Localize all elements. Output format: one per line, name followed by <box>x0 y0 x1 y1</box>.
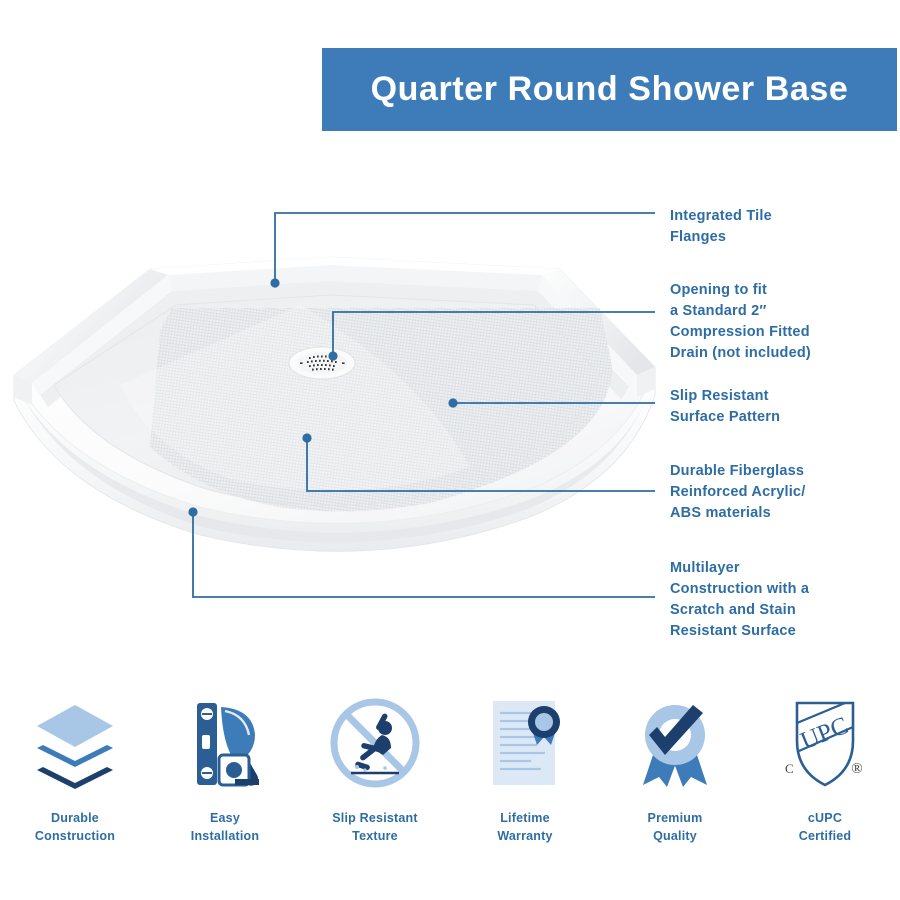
callout-multilayer-construction: Multilayer Construction with a Scratch a… <box>670 558 885 642</box>
callout-line: Flanges <box>670 227 885 248</box>
callout-line: Resistant Surface <box>670 621 885 642</box>
feature-label: Lifetime Warranty <box>497 809 552 845</box>
feature-label-line: Lifetime <box>497 809 552 827</box>
feature-label-line: Slip Resistant <box>332 809 417 827</box>
callout-line: Surface Pattern <box>670 407 885 428</box>
feature-label-line: Warranty <box>497 827 552 845</box>
upc-c-mark: C <box>785 761 794 776</box>
certificate-icon <box>470 690 580 795</box>
seal-inner <box>535 713 553 731</box>
feature-premium-quality: Premium Quality <box>600 690 750 845</box>
feature-label: cUPC Certified <box>799 809 852 845</box>
feature-label: Slip Resistant Texture <box>332 809 417 845</box>
feature-lifetime-warranty: Lifetime Warranty <box>450 690 600 845</box>
drain-assembly <box>289 347 355 379</box>
callout-line: Scratch and Stain <box>670 600 885 621</box>
callout-drain-opening: Opening to fit a Standard 2″ Compression… <box>670 280 885 364</box>
feature-label-line: Certified <box>799 827 852 845</box>
upc-registered-mark: ® <box>851 761 862 777</box>
callout-line: ABS materials <box>670 503 885 524</box>
callout-line: a Standard 2″ <box>670 301 885 322</box>
shower-base-drawing <box>0 235 670 555</box>
feature-label-line: Installation <box>191 827 259 845</box>
callout-line: Compression Fitted <box>670 322 885 343</box>
feature-label-line: Easy <box>191 809 259 827</box>
callout-slip-resistant-surface: Slip Resistant Surface Pattern <box>670 386 885 428</box>
callout-durable-materials: Durable Fiberglass Reinforced Acrylic/ A… <box>670 461 885 524</box>
no-slip-icon <box>320 690 430 795</box>
feature-label-line: cUPC <box>799 809 852 827</box>
callout-line: Multilayer <box>670 558 885 579</box>
tape-blade <box>235 779 259 785</box>
feature-label-line: Quality <box>648 827 703 845</box>
callout-line: Construction with a <box>670 579 885 600</box>
callout-line: Slip Resistant <box>670 386 885 407</box>
feature-durable-construction: Durable Construction <box>0 690 150 845</box>
level-trowel-icon <box>170 690 280 795</box>
feature-label-line: Texture <box>332 827 417 845</box>
feature-label: Durable Construction <box>35 809 115 845</box>
level-vial <box>202 735 210 749</box>
page-title: Quarter Round Shower Base <box>371 70 849 109</box>
feature-badges-row: Durable Construction <box>0 690 900 870</box>
feature-label-line: Construction <box>35 827 115 845</box>
drain-inner-ring <box>297 352 347 374</box>
feature-label-line: Premium <box>648 809 703 827</box>
infographic-page: Quarter Round Shower Base <box>0 0 900 900</box>
check-rosette-icon <box>620 690 730 795</box>
feature-label-line: Durable <box>35 809 115 827</box>
layers-icon <box>20 690 130 795</box>
product-illustration <box>0 235 670 555</box>
upc-shield-icon: UPC C ® <box>770 690 880 795</box>
feature-label: Easy Installation <box>191 809 259 845</box>
callout-line: Drain (not included) <box>670 343 885 364</box>
feature-label: Premium Quality <box>648 809 703 845</box>
callout-integrated-tile-flanges: Integrated Tile Flanges <box>670 206 885 248</box>
callout-line: Durable Fiberglass <box>670 461 885 482</box>
title-banner: Quarter Round Shower Base <box>322 48 897 131</box>
callout-line: Reinforced Acrylic/ <box>670 482 885 503</box>
feature-slip-resistant-texture: Slip Resistant Texture <box>300 690 450 845</box>
callout-line: Integrated Tile <box>670 206 885 227</box>
feature-cupc-certified: UPC C ® cUPC Certified <box>750 690 900 845</box>
feature-easy-installation: Easy Installation <box>150 690 300 845</box>
callout-line: Opening to fit <box>670 280 885 301</box>
